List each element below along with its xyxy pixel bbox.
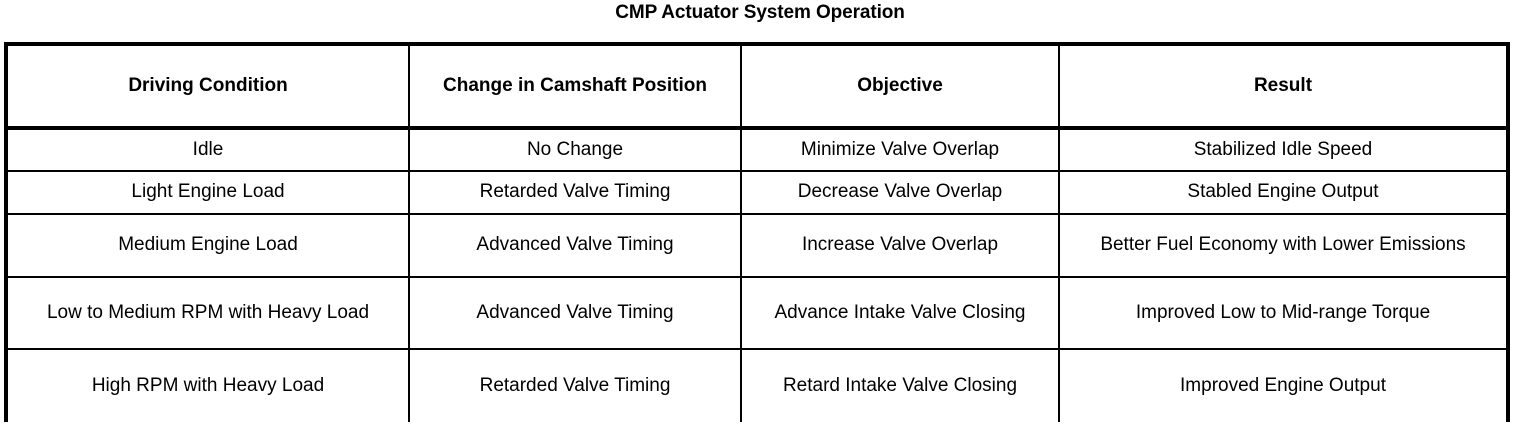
table-header-row: Driving Condition Change in Camshaft Pos… xyxy=(8,46,1506,128)
cell-camshaft-change: Retarded Valve Timing xyxy=(409,171,741,214)
table-container: Driving Condition Change in Camshaft Pos… xyxy=(4,42,1510,422)
cell-result: Improved Engine Output xyxy=(1059,349,1506,422)
page-root: CMP Actuator System Operation Driving Co… xyxy=(0,0,1520,426)
cell-objective: Advance Intake Valve Closing xyxy=(741,277,1059,349)
cell-objective: Increase Valve Overlap xyxy=(741,214,1059,277)
cell-objective: Decrease Valve Overlap xyxy=(741,171,1059,214)
cell-driving-condition: Medium Engine Load xyxy=(8,214,409,277)
cell-objective: Minimize Valve Overlap xyxy=(741,128,1059,171)
cmp-actuator-table: Driving Condition Change in Camshaft Pos… xyxy=(8,46,1506,422)
table-row: Light Engine Load Retarded Valve Timing … xyxy=(8,171,1506,214)
column-header-camshaft-position: Change in Camshaft Position xyxy=(409,46,741,128)
cell-driving-condition: Light Engine Load xyxy=(8,171,409,214)
cell-result: Better Fuel Economy with Lower Emissions xyxy=(1059,214,1506,277)
page-title: CMP Actuator System Operation xyxy=(0,0,1520,26)
cell-result: Improved Low to Mid-range Torque xyxy=(1059,277,1506,349)
cell-result: Stabled Engine Output xyxy=(1059,171,1506,214)
column-header-result: Result xyxy=(1059,46,1506,128)
cell-driving-condition: High RPM with Heavy Load xyxy=(8,349,409,422)
cell-camshaft-change: Advanced Valve Timing xyxy=(409,277,741,349)
cell-camshaft-change: No Change xyxy=(409,128,741,171)
table-row: Idle No Change Minimize Valve Overlap St… xyxy=(8,128,1506,171)
cell-driving-condition: Idle xyxy=(8,128,409,171)
table-body: Idle No Change Minimize Valve Overlap St… xyxy=(8,128,1506,422)
table-row: Medium Engine Load Advanced Valve Timing… xyxy=(8,214,1506,277)
table-row: High RPM with Heavy Load Retarded Valve … xyxy=(8,349,1506,422)
cell-objective: Retard Intake Valve Closing xyxy=(741,349,1059,422)
cell-driving-condition: Low to Medium RPM with Heavy Load xyxy=(8,277,409,349)
column-header-driving-condition: Driving Condition xyxy=(8,46,409,128)
cell-camshaft-change: Retarded Valve Timing xyxy=(409,349,741,422)
cell-camshaft-change: Advanced Valve Timing xyxy=(409,214,741,277)
table-row: Low to Medium RPM with Heavy Load Advanc… xyxy=(8,277,1506,349)
cell-result: Stabilized Idle Speed xyxy=(1059,128,1506,171)
column-header-objective: Objective xyxy=(741,46,1059,128)
table-header: Driving Condition Change in Camshaft Pos… xyxy=(8,46,1506,128)
